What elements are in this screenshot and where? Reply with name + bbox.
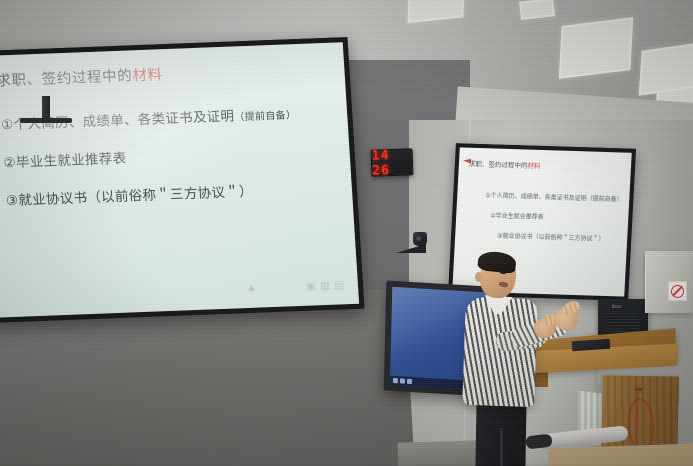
secondary-slide-title: 求职、签约过程中的材料	[469, 158, 541, 170]
presenter-ear	[475, 272, 482, 282]
panel-fastener	[635, 388, 643, 391]
no-smoking-sign	[668, 281, 687, 301]
no-smoking-slash	[672, 285, 682, 295]
taskbar-app-icon[interactable]	[407, 379, 412, 384]
lecture-hall-photo: 求职、签约过程中的材料 ①个人简历、成绩单、各类证书及证明（提前自备） ②毕业生…	[0, 0, 693, 466]
bullet-2-text: 毕业生就业推荐表	[16, 151, 127, 171]
slide-watermark-row: ▲ ▣ ▦ ▤	[0, 278, 359, 312]
main-slide-surface: 求职、签约过程中的材料 ①个人简历、成绩单、各类证书及证明（提前自备） ②毕业生…	[0, 42, 359, 317]
clock-time: 14 26	[371, 147, 412, 178]
secondary-bullet-3: ③就业协议书（以前俗称＂三方协议＂）	[497, 231, 621, 244]
camera-lens-icon	[416, 236, 423, 243]
bullet-3-text: 就业协议书（以前俗称＂三方协议＂）	[18, 184, 254, 209]
slide-bullet-1: ①个人简历、成绩单、各类证书及证明（提前自备）	[0, 100, 339, 133]
camera-head	[413, 232, 427, 246]
slide-bullet-2: ②毕业生就业推荐表	[3, 138, 342, 171]
watermark-logo-icon: ▲	[246, 282, 258, 294]
presenter-eye	[500, 271, 506, 275]
secondary-title-prefix: 求职、签约过程中的	[469, 160, 528, 170]
secondary-bullet-1: ①个人简历、成绩单、各类证书及证明（提前自备）	[485, 190, 623, 203]
secondary-title-highlight: 材料	[527, 162, 540, 170]
taskbar-start-icon[interactable]	[393, 378, 398, 383]
watermark-badge-icon: ▦	[320, 279, 331, 292]
no-smoking-icon	[671, 285, 684, 298]
speaker-brand-label: Bose	[612, 304, 622, 309]
bullet-1-note: （提前自备）	[234, 110, 296, 123]
presenter-leg-seam	[500, 428, 503, 466]
watermark-badge-icon: ▤	[334, 278, 345, 291]
main-projection-screen[interactable]: 求职、签约过程中的材料 ①个人简历、成绩单、各类证书及证明（提前自备） ②毕业生…	[0, 37, 364, 323]
ptz-camera	[396, 232, 430, 258]
secondary-bullet-2: ②毕业生就业推荐表	[490, 210, 622, 223]
digital-wall-clock: 14 26	[371, 148, 414, 176]
slide-title: 求职、签约过程中的材料	[0, 63, 163, 90]
secondary-bullet-list: ①个人简历、成绩单、各类证书及证明（提前自备） ②毕业生就业推荐表 ③就业协议书…	[482, 190, 623, 254]
slide-bullet-3: ③就业协议书（以前俗称＂三方协议＂）	[5, 176, 344, 209]
ceiling-light-panel	[559, 17, 633, 79]
slide-title-prefix: 求职、签约过程中的	[0, 68, 133, 89]
smartboard-base	[20, 118, 72, 123]
wall-service-cabinet[interactable]	[645, 251, 693, 313]
watermark-badge-icon: ▣	[306, 279, 317, 292]
taskbar-app-icon[interactable]	[400, 378, 405, 383]
slide-title-highlight: 材料	[132, 67, 163, 84]
